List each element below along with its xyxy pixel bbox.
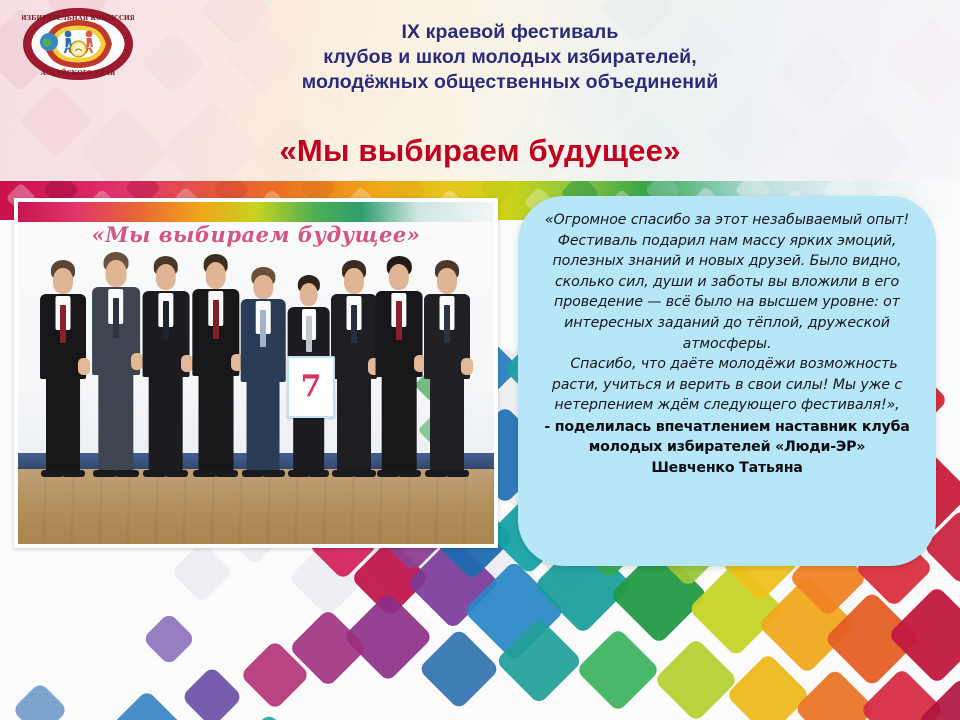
decorative-diamond bbox=[171, 541, 233, 603]
photo-floor bbox=[18, 469, 494, 544]
decorative-diamond bbox=[779, 34, 855, 110]
electoral-commission-altai-emblem: ИЗБИРАТЕЛЬНАЯ КОМИССИЯ АЛТАЙСКОГО КРАЯ bbox=[22, 6, 134, 82]
festival-photo-frame: «Мы выбираем будущее» 7 bbox=[14, 198, 498, 548]
svg-text:ИЗБИРАТЕЛЬНАЯ КОМИССИЯ: ИЗБИРАТЕЛЬНАЯ КОМИССИЯ bbox=[22, 15, 134, 22]
photo-backdrop-color-strip bbox=[18, 202, 494, 222]
photo-person bbox=[90, 252, 142, 473]
quote-attribution-line-1: - поделилась впечатлением наставник клуб… bbox=[534, 417, 920, 437]
decorative-diamond bbox=[77, 107, 168, 182]
decorative-diamond bbox=[576, 628, 661, 713]
decorative-diamond bbox=[828, 113, 913, 182]
decorative-diamond bbox=[12, 682, 69, 720]
svg-text:АЛТАЙСКОГО КРАЯ: АЛТАЙСКОГО КРАЯ bbox=[41, 69, 116, 77]
photo-person bbox=[190, 254, 241, 472]
quote-paragraph-1: «Огромное спасибо за этот незабываемый о… bbox=[534, 210, 920, 354]
header-banner: ИЗБИРАТЕЛЬНАЯ КОМИССИЯ АЛТАЙСКОГО КРАЯ I… bbox=[0, 0, 960, 182]
photo-person bbox=[374, 256, 425, 472]
photo-person bbox=[329, 260, 379, 472]
photo-person bbox=[38, 260, 88, 472]
quote-attribution-line-2: молодых избирателей «Люди-ЭР» bbox=[534, 437, 920, 457]
festival-title-line-1: IX краевой фестиваль bbox=[230, 20, 790, 45]
decorative-diamond bbox=[112, 690, 183, 720]
certificate-number: 7 bbox=[301, 372, 322, 402]
festival-title: IX краевой фестиваль клубов и школ молод… bbox=[230, 20, 790, 95]
photo-person bbox=[239, 267, 287, 473]
decorative-diamond bbox=[19, 84, 93, 158]
decorative-diamond bbox=[418, 628, 500, 710]
photo-backdrop-banner-text: «Мы выбираем будущее» bbox=[18, 222, 494, 247]
decorative-diamond bbox=[181, 666, 243, 720]
festival-slogan: «Мы выбираем будущее» bbox=[180, 132, 780, 170]
decorative-diamond bbox=[654, 638, 739, 720]
quote-attribution-line-3: Шевченко Татьяна bbox=[534, 458, 920, 478]
decorative-diamond bbox=[228, 713, 310, 720]
decorative-diamond bbox=[142, 612, 196, 666]
festival-title-line-3: молодёжных общественных объединений bbox=[230, 70, 790, 95]
decorative-diamond bbox=[887, 17, 960, 105]
photo-person bbox=[140, 256, 191, 472]
quote-paragraph-2: Спасибо, что даёте молодёжи возможность … bbox=[534, 354, 920, 416]
slide-root: ИЗБИРАТЕЛЬНАЯ КОМИССИЯ АЛТАЙСКОГО КРАЯ I… bbox=[0, 0, 960, 720]
decorative-diamond bbox=[140, 30, 205, 95]
quote-bubble: «Огромное спасибо за этот незабываемый о… bbox=[518, 196, 936, 566]
festival-photo: «Мы выбираем будущее» 7 bbox=[18, 202, 494, 544]
festival-title-line-2: клубов и школ молодых избирателей, bbox=[230, 45, 790, 70]
certificate-card: 7 bbox=[287, 356, 335, 418]
quote-attribution: - поделилась впечатлением наставник клуб… bbox=[534, 417, 920, 478]
photo-person bbox=[422, 260, 472, 472]
